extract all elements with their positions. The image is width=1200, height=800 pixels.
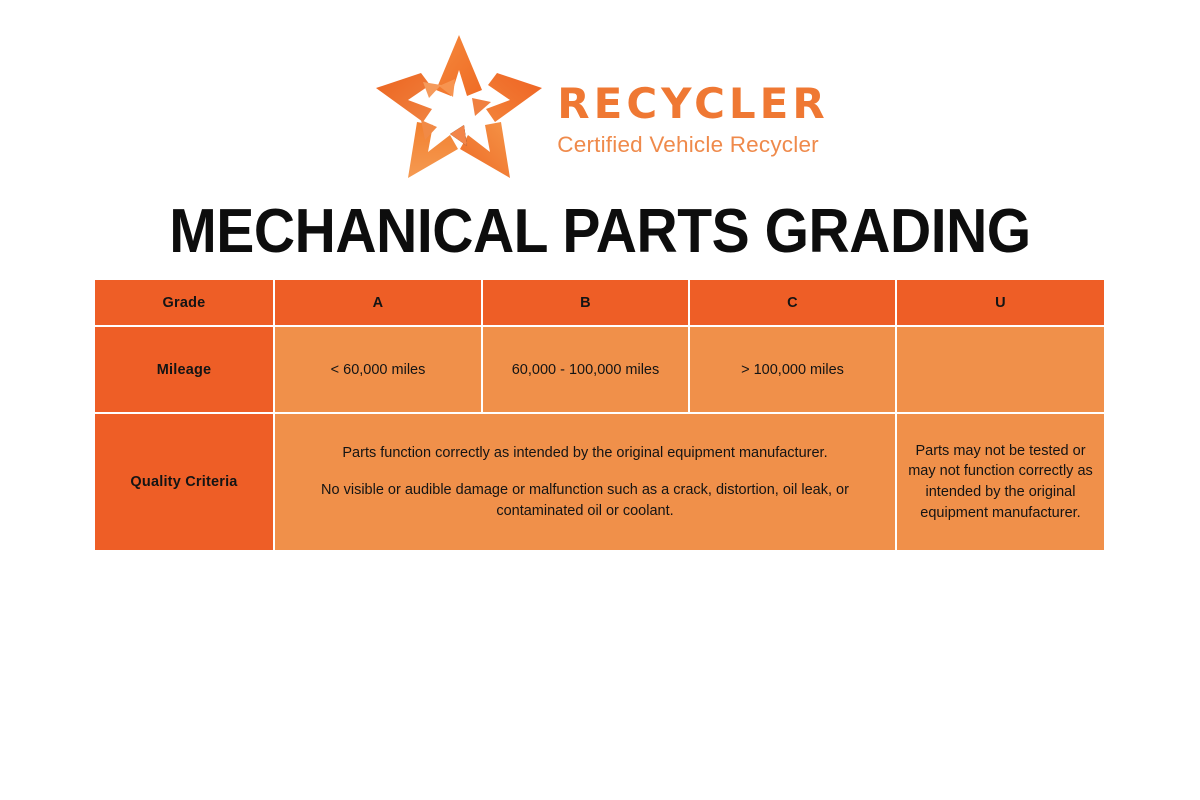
page-title: MECHANICAL PARTS GRADING <box>48 196 1152 268</box>
logo-wordmark: RECYCLER Certified Vehicle Recycler <box>557 54 828 159</box>
header-cell-c: C <box>690 280 897 327</box>
table-row-quality-criteria: Quality Criteria Parts function correctl… <box>95 414 1104 550</box>
brand-name: RECYCLER <box>557 82 828 126</box>
cell-mileage-u <box>897 327 1104 414</box>
header-cell-u: U <box>897 280 1104 327</box>
table-header-row: Grade A B C U <box>95 280 1104 327</box>
cell-quality-criteria-u: Parts may not be tested or may not funct… <box>897 414 1104 550</box>
header-cell-grade: Grade <box>95 280 275 327</box>
logo-inner: RECYCLER Certified Vehicle Recycler <box>371 30 828 182</box>
row-label-quality-criteria: Quality Criteria <box>95 414 275 550</box>
header-cell-a: A <box>275 280 483 327</box>
quality-criteria-line-2: No visible or audible damage or malfunct… <box>283 480 887 521</box>
brand-logo: RECYCLER Certified Vehicle Recycler <box>0 26 1200 186</box>
mechanical-parts-grading-table: Grade A B C U Mileage < 60,000 miles 60,… <box>95 280 1104 550</box>
quality-criteria-line-1: Parts function correctly as intended by … <box>283 443 887 464</box>
row-label-mileage: Mileage <box>95 327 275 414</box>
cell-quality-criteria-abc: Parts function correctly as intended by … <box>275 414 897 550</box>
recycling-star-icon <box>371 30 547 182</box>
cell-mileage-b: 60,000 - 100,000 miles <box>483 327 690 414</box>
header-cell-b: B <box>483 280 690 327</box>
cell-mileage-a: < 60,000 miles <box>275 327 483 414</box>
cell-mileage-c: > 100,000 miles <box>690 327 897 414</box>
grading-document-page: RECYCLER Certified Vehicle Recycler MECH… <box>0 0 1200 800</box>
brand-tagline: Certified Vehicle Recycler <box>557 131 828 158</box>
table-row-mileage: Mileage < 60,000 miles 60,000 - 100,000 … <box>95 327 1104 414</box>
